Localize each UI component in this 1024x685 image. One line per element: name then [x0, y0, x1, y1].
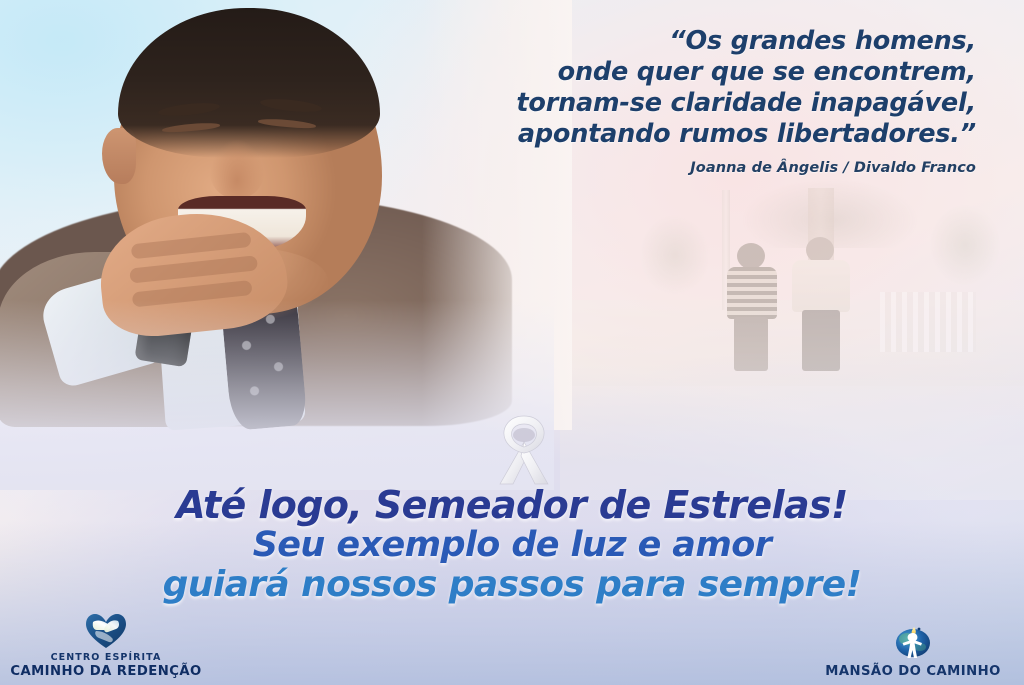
portrait-bottom-fade: [0, 300, 554, 490]
background-palm-left: [640, 215, 710, 295]
headline-line-1: Até logo, Semeador de Estrelas!: [0, 484, 1024, 526]
portrait-ear: [102, 128, 136, 184]
logo-left-line-2: CAMINHO DA REDENÇÃO: [6, 664, 206, 679]
quote-line-3: tornam-se claridade inapagável,: [416, 88, 976, 119]
quote-author: Joanna de Ângelis / Divaldo Franco: [416, 160, 976, 176]
logo-centro-espirita-caminho-da-redencao: CENTRO ESPÍRITA CAMINHO DA REDENÇÃO: [6, 613, 206, 679]
background-person-child: [723, 243, 779, 371]
logo-right-line-1: MANSÃO DO CAMINHO: [808, 664, 1018, 679]
background-wall: [560, 300, 1024, 386]
headline-line-2: Seu exemplo de luz e amor: [0, 526, 1024, 565]
background-pole: [722, 190, 730, 310]
background-ground: [560, 380, 1024, 500]
mourning-ribbon-icon: [491, 412, 557, 486]
memorial-poster: “Os grandes homens, onde quer que se enc…: [0, 0, 1024, 685]
quote-line-2: onde quer que se encontrem,: [416, 57, 976, 88]
globe-figure-icon: [890, 621, 936, 661]
quote-block: “Os grandes homens, onde quer que se enc…: [416, 26, 976, 176]
background-palm-right: [930, 205, 1000, 285]
logo-mansao-do-caminho: MANSÃO DO CAMINHO: [808, 621, 1018, 679]
portrait-nose: [210, 140, 264, 198]
headline-block: Até logo, Semeador de Estrelas! Seu exem…: [0, 484, 1024, 605]
background-tree-trunk: [808, 188, 834, 308]
background-person-adult: [790, 237, 852, 371]
headline-line-3: guiará nossos passos para sempre!: [0, 565, 1024, 605]
quote-line-4: apontando rumos libertadores.”: [416, 119, 976, 150]
heart-hands-icon: [84, 613, 128, 649]
quote-line-1: “Os grandes homens,: [416, 26, 976, 57]
portrait-hair: [118, 8, 380, 158]
background-fence: [880, 292, 976, 352]
background-tree-canopy: [740, 178, 920, 248]
logo-left-line-1: CENTRO ESPÍRITA: [6, 652, 206, 664]
